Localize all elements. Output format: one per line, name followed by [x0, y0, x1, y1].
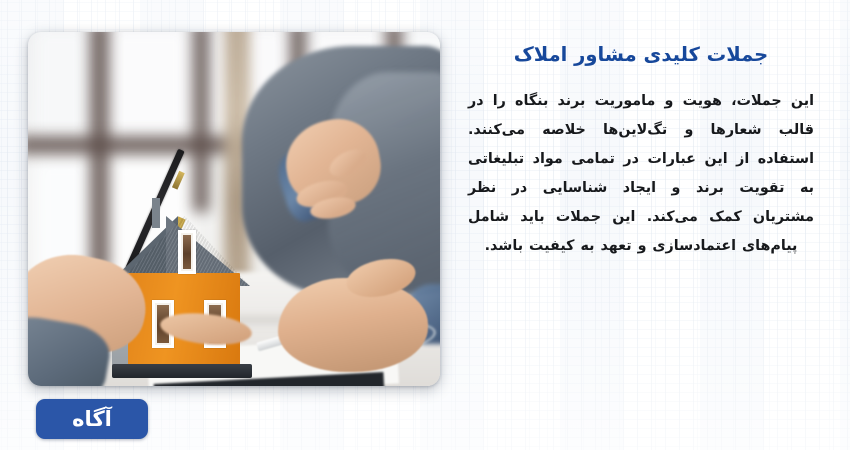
article-body-text: این جملات، هویت و ماموریت برند بنگاه را … [468, 87, 814, 261]
article-text-column: جملات کلیدی مشاور املاک این جملات، هویت … [468, 42, 814, 261]
page-canvas: آگاه جملات کلیدی مشاور املاک این جملات، … [0, 0, 850, 450]
window-glass [183, 235, 191, 269]
article-photo-card [28, 32, 440, 386]
model-house-base [112, 364, 252, 378]
window-pane-2 [106, 32, 192, 142]
model-house-attic-window [178, 230, 196, 274]
window-pane-1 [30, 32, 92, 144]
realtor-photo [28, 32, 440, 386]
article-title: جملات کلیدی مشاور املاک [468, 42, 814, 68]
site-logo-badge[interactable]: آگاه [36, 399, 148, 439]
site-logo-text: آگاه [72, 409, 112, 430]
window-mullion-vertical-2 [193, 32, 209, 212]
